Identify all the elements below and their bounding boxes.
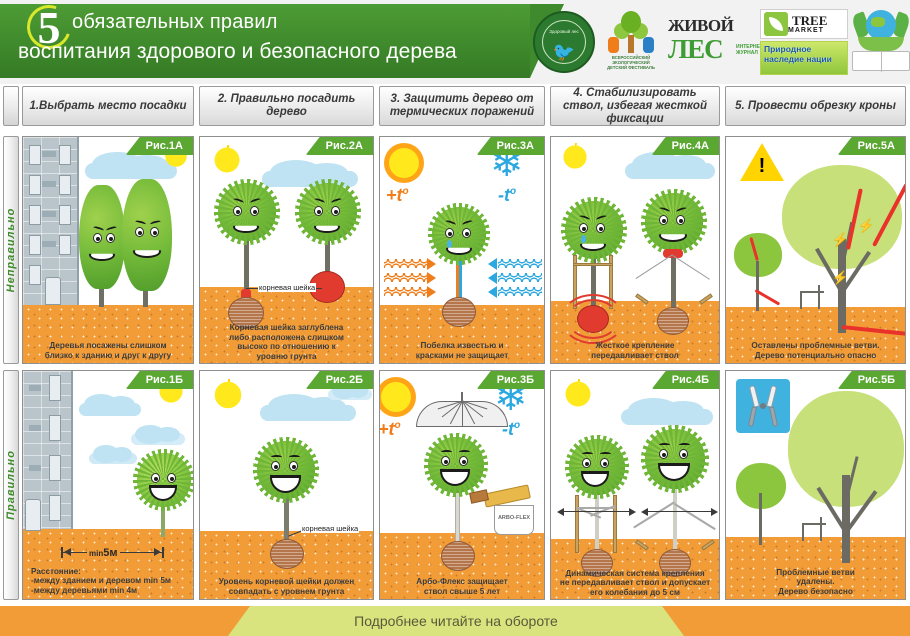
corner-cell: [3, 86, 19, 126]
distance-value: 5м: [103, 547, 117, 559]
temp-cold-text: -t: [498, 185, 510, 205]
tree-crown-2a-right: [299, 183, 357, 241]
panel-1b[interactable]: min5м Рис.1Б Расстояние: -между зданием …: [22, 370, 194, 600]
temp-cold-label-3a: -to: [498, 185, 516, 206]
zhivoy-les-wordmark: ЖИВОЙ ЛЕС ИНТЕРНЕТ-ЖУРНАЛ: [664, 14, 756, 70]
pruning-shears-icon: [736, 379, 790, 433]
cloud-icon-2: [328, 389, 372, 400]
temp-cold-sup: o: [514, 420, 520, 431]
heat-arrow-2: [427, 272, 436, 284]
panel-2a[interactable]: корневая шейка Рис.2А Корневая шейка заг…: [199, 136, 374, 364]
caption-3b: Арбо-Флекс защищает ствол свыше 5 лет: [382, 577, 542, 596]
cloud-icon-1: [260, 405, 356, 421]
tree-crown-2b: [257, 441, 315, 499]
cold-arrow-1: [488, 258, 497, 270]
figure-label-1a: Рис.1А: [126, 137, 193, 155]
guy-wire-4b-2: [633, 501, 675, 528]
caption-2a: Корневая шейка заглублена либо расположе…: [202, 323, 371, 361]
caption-1b: Расстояние: -между зданием и деревом min…: [31, 567, 191, 596]
cloud-icon-2: [131, 433, 185, 445]
bird-icon: 🐦: [553, 43, 575, 61]
bucket-label: ARBO-FLEX: [496, 515, 532, 521]
cold-wave-3: [498, 287, 542, 296]
trunk-3b-wrapped: [455, 489, 460, 543]
footer: Подробнее читайте на обороте: [0, 606, 910, 636]
temp-hot-label-3b: +to: [379, 419, 401, 440]
arbo-flex-product: ARBO-FLEX: [484, 489, 544, 539]
guy-wire-4b-1: [674, 503, 716, 530]
caption-2b: Уровень корневой шейки должен совпадать …: [202, 577, 371, 596]
temp-hot-text: +t: [386, 185, 403, 205]
caption-3a: Побелка известью и красками не защищает: [382, 341, 542, 360]
stake-4b-1: [575, 495, 579, 553]
column-header-2[interactable]: 2. Правильно посадить дерево: [199, 86, 374, 126]
column-header-3[interactable]: 3. Защитить дерево от термических пораже…: [379, 86, 545, 126]
row-label-right-text: Правильно: [5, 450, 17, 520]
column-header-5[interactable]: 5. Провести обрезку кроны: [725, 86, 906, 126]
temp-cold-sup: o: [510, 186, 516, 197]
row-label-wrong-text: Неправильно: [5, 208, 17, 293]
building-1a: [23, 137, 79, 305]
temp-hot-text: +t: [379, 419, 395, 439]
stake-4b-2: [613, 495, 617, 553]
seal-icon: Здоровый лес 🐦: [533, 11, 595, 73]
rootball-3a: [442, 297, 476, 327]
tree-crown-1a-right: [122, 179, 172, 291]
protection-umbrella-icon: [416, 397, 508, 425]
figure-label-3b: Рис.3Б: [477, 371, 544, 389]
tree-crown-4a-right: [645, 193, 703, 251]
small-tree-5a: [734, 233, 790, 313]
cold-wave-1: [498, 259, 542, 268]
tree-market-block: TREE MARKET Природное наследие нации: [760, 7, 848, 77]
distance-cap-right: [162, 547, 164, 558]
logo-moscow-school-seal: Здоровый лес 🐦: [528, 4, 600, 80]
column-header-4[interactable]: 4. Стабилизировать ствол, избегая жестко…: [550, 86, 720, 126]
figure-label-1b: Рис.1Б: [126, 371, 193, 389]
infographic-page: 5 обязательных правил воспитания здорово…: [0, 0, 910, 636]
pressure-ripple-2: [561, 294, 625, 344]
guy-wire-1: [672, 255, 710, 280]
sway-arrow-left-1: [557, 508, 564, 516]
header-title-line2: воспитания здорового и безопасного дерев…: [18, 40, 457, 64]
figure-label-3a: Рис.3А: [477, 137, 544, 155]
temp-hot-sup: o: [403, 186, 409, 197]
heat-wave-2: [384, 273, 428, 282]
damage-bolt-2: ⚡: [858, 219, 874, 232]
header-title-line1: обязательных правил: [72, 11, 278, 34]
tree-crown-2a-left: [218, 183, 276, 241]
column-header-1[interactable]: 1.Выбрать место посадки: [22, 86, 194, 126]
leaf-icon: [764, 12, 788, 36]
panel-1a[interactable]: Рис.1А Деревья посажены слишком близко к…: [22, 136, 194, 364]
warning-triangle-icon: [740, 143, 784, 181]
distance-arrow-right: [154, 548, 161, 556]
heat-arrow-3: [427, 286, 436, 298]
temp-hot-sup: o: [395, 420, 401, 431]
sway-line-left: [559, 511, 633, 512]
sun-icon: [561, 143, 589, 171]
sun-icon: [212, 379, 244, 411]
row-label-right: Правильно: [3, 370, 19, 600]
cloud-icon: [625, 163, 715, 179]
figure-label-2a: Рис.2А: [306, 137, 373, 155]
logo-globe-book: [850, 4, 910, 80]
sun-icon: [212, 145, 242, 175]
seal-sub-text: Здоровый лес: [535, 29, 593, 34]
temp-hot-label-3a: +to: [386, 185, 409, 206]
panel-3a[interactable]: ❄ +to -to Рис.3А Побелка известью и крас…: [379, 136, 545, 364]
tree-crown-3a: [432, 207, 486, 261]
panel-3b[interactable]: ❄ +to -to ARBO-FLEX: [379, 370, 545, 600]
cloud-icon-3: [89, 453, 137, 464]
header: 5 обязательных правил воспитания здорово…: [0, 0, 910, 84]
leader-label-2b: корневая шейка: [301, 524, 359, 533]
caption-4b: Динамическая система крепления не переда…: [553, 569, 717, 598]
crossbar-4a: [573, 263, 613, 266]
rootball-2b: [270, 539, 304, 569]
rootball-4a-right: [657, 307, 689, 335]
logo-children-festival: ВСЕРОССИЙСКИЙ ЭКОЛОГИЧЕСКИЙ ДЕТСКИЙ ФЕСТ…: [600, 4, 662, 80]
sun-hot-icon: [384, 143, 424, 183]
caption-5b: Проблемные ветви удалены. Дерево безопас…: [728, 568, 903, 597]
cold-wave-2: [498, 273, 542, 282]
panel-5a[interactable]: ⚡ ⚡ ⚡ Рис.5А Оставлены проблемные ветви.…: [725, 136, 906, 364]
sway-arrow-right-2: [711, 508, 718, 516]
footer-text: Подробнее читайте на обороте: [354, 613, 558, 629]
panel-4b[interactable]: Рис.4Б Динамическая система крепления не…: [550, 370, 720, 600]
building-1b: [23, 371, 73, 529]
logo-strip: Здоровый лес 🐦 ВСЕРОССИЙСКИЙ ЭКОЛОГИЧЕСК…: [528, 2, 910, 82]
tree-crown-1a-left: [79, 185, 125, 289]
heat-wave-3: [384, 287, 428, 296]
cold-arrow-2: [488, 272, 497, 284]
les-word: ЛЕС: [668, 34, 723, 65]
column-headers: 1.Выбрать место посадки 2. Правильно пос…: [0, 86, 910, 130]
tree-crown-4b-right: [645, 429, 705, 489]
distance-prefix: min: [89, 549, 103, 558]
tree-crown-3b: [428, 437, 484, 493]
distance-arrow-left: [64, 548, 71, 556]
cloud-icon: [621, 409, 713, 425]
prirodnoe-nasledie-text: Природное наследие нации: [764, 44, 846, 64]
tree-crown-4b-left: [569, 439, 625, 495]
festival-caption: ВСЕРОССИЙСКИЙ ЭКОЛОГИЧЕСКИЙ ДЕТСКИЙ ФЕСТ…: [602, 55, 660, 70]
sun-hot-icon: [379, 377, 416, 417]
sway-arrow-right-1: [641, 508, 648, 516]
cloud-icon: [85, 163, 177, 179]
cloud-icon-1: [79, 403, 141, 416]
heat-arrow-1: [427, 258, 436, 270]
festival-tree-icon: ВСЕРОССИЙСКИЙ ЭКОЛОГИЧЕСКИЙ ДЕТСКИЙ ФЕСТ…: [602, 9, 660, 75]
globe-book-icon: [850, 7, 910, 77]
tree-word: TREE: [792, 15, 827, 27]
trunk-4b-left: [595, 495, 599, 549]
panel-4a[interactable]: Рис.4А Жесткое крепление передавливает с…: [550, 136, 720, 364]
sway-line-right: [643, 511, 715, 512]
small-tree-5b: [736, 463, 792, 545]
caption-1a: Деревья посажены слишком близко к зданию…: [25, 341, 191, 360]
leader-label-2a: корневая шейка: [258, 283, 316, 292]
sun-icon: [563, 379, 593, 409]
cold-arrow-3: [488, 286, 497, 298]
heat-wave-1: [384, 259, 428, 268]
row-label-wrong: Неправильно: [3, 136, 19, 364]
panel-2b[interactable]: корневая шейка Рис.2Б Уровень корневой ш…: [199, 370, 374, 600]
sway-arrow-left-2: [629, 508, 636, 516]
distance-cap-left: [61, 547, 63, 558]
footer-banner: Подробнее читайте на обороте: [228, 606, 684, 636]
bench-icon: [800, 285, 826, 309]
caption-5a: Оставлены проблемные ветви. Дерево потен…: [728, 341, 903, 360]
figure-label-4b: Рис.4Б: [652, 371, 719, 389]
bench-icon: [802, 517, 828, 541]
rootball-3b: [441, 541, 475, 571]
figure-label-5b: Рис.5Б: [838, 371, 905, 389]
caption-4a: Жесткое крепление передавливает ствол: [553, 341, 717, 360]
figure-label-5a: Рис.5А: [838, 137, 905, 155]
figure-label-4a: Рис.4А: [652, 137, 719, 155]
logo-tree-market: TREE MARKET Природное наследие нации: [758, 4, 850, 80]
market-word: MARKET: [788, 27, 827, 34]
zhivoy-word: ЖИВОЙ: [668, 16, 733, 36]
tree-crown-4a-left: [565, 201, 623, 259]
logo-zhivoy-les: ЖИВОЙ ЛЕС ИНТЕРНЕТ-ЖУРНАЛ: [662, 4, 758, 80]
distance-label-1b: min5м: [87, 547, 120, 559]
trunk-4b-right: [673, 487, 677, 549]
guy-wire-2: [635, 254, 673, 279]
damage-bolt-1: ⚡: [832, 233, 848, 246]
panel-5b[interactable]: Рис.5Б Проблемные ветви удалены. Дерево …: [725, 370, 906, 600]
damage-bolt-3: ⚡: [832, 271, 848, 284]
figure-label-2b: Рис.2Б: [306, 371, 373, 389]
tree-crown-1b: [137, 453, 191, 507]
